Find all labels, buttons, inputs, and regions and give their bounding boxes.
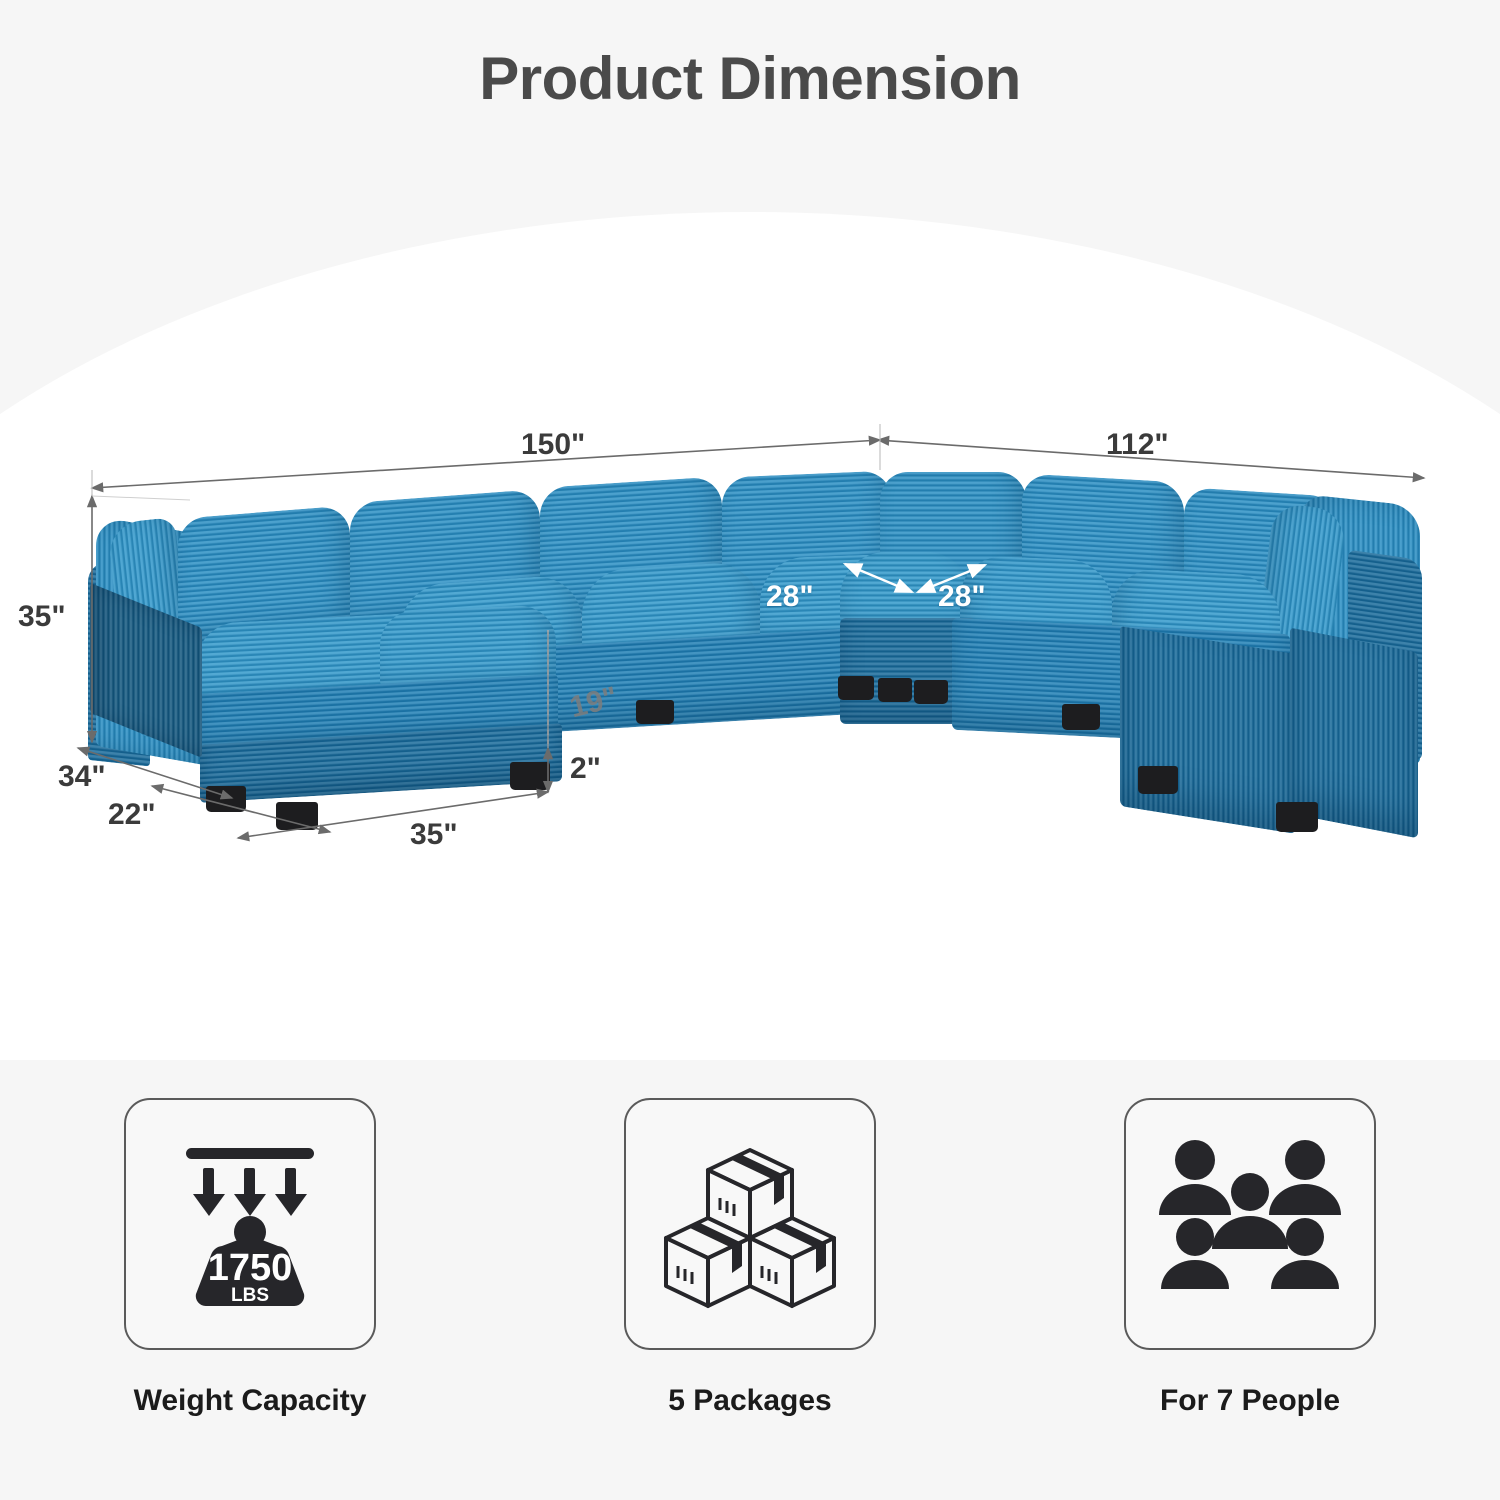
packages-icon	[650, 1124, 850, 1324]
feature-packages: 5 Packages	[585, 1098, 915, 1418]
dimension-label-overall-depth: 112"	[1106, 428, 1169, 462]
dimension-label-overall-height: 35"	[18, 600, 66, 634]
weight-capacity-icon: 1750 LBS	[150, 1124, 350, 1324]
feature-people-label: For 7 People	[1160, 1384, 1340, 1418]
feature-packages-box	[624, 1098, 876, 1350]
dimension-label-chaise-depth: 34"	[58, 760, 106, 794]
weight-capacity-value: 1750	[208, 1247, 293, 1289]
dimension-label-seat-depth-right: 28"	[938, 580, 986, 614]
dimension-label-seat-depth-left: 28"	[766, 580, 814, 614]
weight-capacity-unit: LBS	[231, 1285, 269, 1306]
feature-people-box	[1124, 1098, 1376, 1350]
features-strip: 1750 LBS Weight Capacity	[0, 1062, 1500, 1500]
feature-packages-label: 5 Packages	[668, 1384, 831, 1418]
dimension-label-chaise-width: 22"	[108, 798, 156, 832]
hero-panel: Product Dimension	[0, 0, 1500, 1060]
feature-people: For 7 People	[1085, 1098, 1415, 1418]
dimension-lines-overlay	[0, 0, 1500, 1060]
people-icon	[1150, 1124, 1350, 1324]
feature-weight-capacity-label: Weight Capacity	[134, 1384, 367, 1418]
dimension-label-leg-height: 2"	[570, 752, 601, 786]
dimension-label-ottoman-length: 35"	[410, 818, 458, 852]
feature-weight-capacity-box: 1750 LBS	[124, 1098, 376, 1350]
dimension-label-overall-width: 150"	[521, 428, 585, 462]
feature-weight-capacity: 1750 LBS Weight Capacity	[85, 1098, 415, 1418]
product-dimension-infographic: Product Dimension	[0, 0, 1500, 1500]
